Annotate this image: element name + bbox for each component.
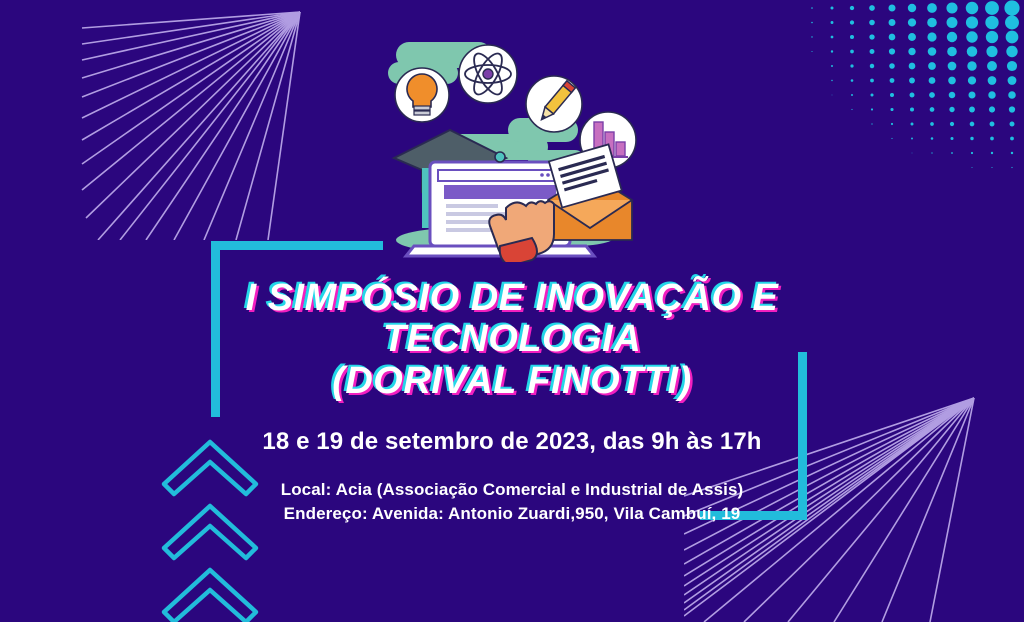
title-line-2: TECNOLOGIA: [120, 319, 904, 360]
venue-name: Local: Acia (Associação Comercial e Indu…: [0, 478, 1024, 501]
pencil-icon: [526, 76, 582, 132]
title-line-3: (DORIVAL FINOTTI): [120, 361, 904, 402]
title-line-1: I SIMPÓSIO DE INOVAÇÃO E: [120, 278, 904, 319]
poster-title: I SIMPÓSIO DE INOVAÇÃO E TECNOLOGIA (DOR…: [0, 278, 1024, 402]
event-venue: Local: Acia (Associação Comercial e Indu…: [0, 478, 1024, 525]
poster-text-block: I SIMPÓSIO DE INOVAÇÃO E TECNOLOGIA (DOR…: [0, 278, 1024, 525]
venue-address: Endereço: Avenida: Antonio Zuardi,950, V…: [0, 502, 1024, 525]
lightbulb-icon: [395, 68, 449, 122]
chevron-up-icon-3: [164, 570, 256, 622]
ray-lines-top-left: [0, 0, 420, 240]
education-technology-illustration: [378, 22, 646, 262]
halftone-dots: [764, 0, 1024, 175]
event-poster: I SIMPÓSIO DE INOVAÇÃO E TECNOLOGIA (DOR…: [0, 0, 1024, 622]
event-date: 18 e 19 de setembro de 2023, das 9h às 1…: [0, 428, 1024, 456]
atom-icon: [459, 45, 517, 103]
